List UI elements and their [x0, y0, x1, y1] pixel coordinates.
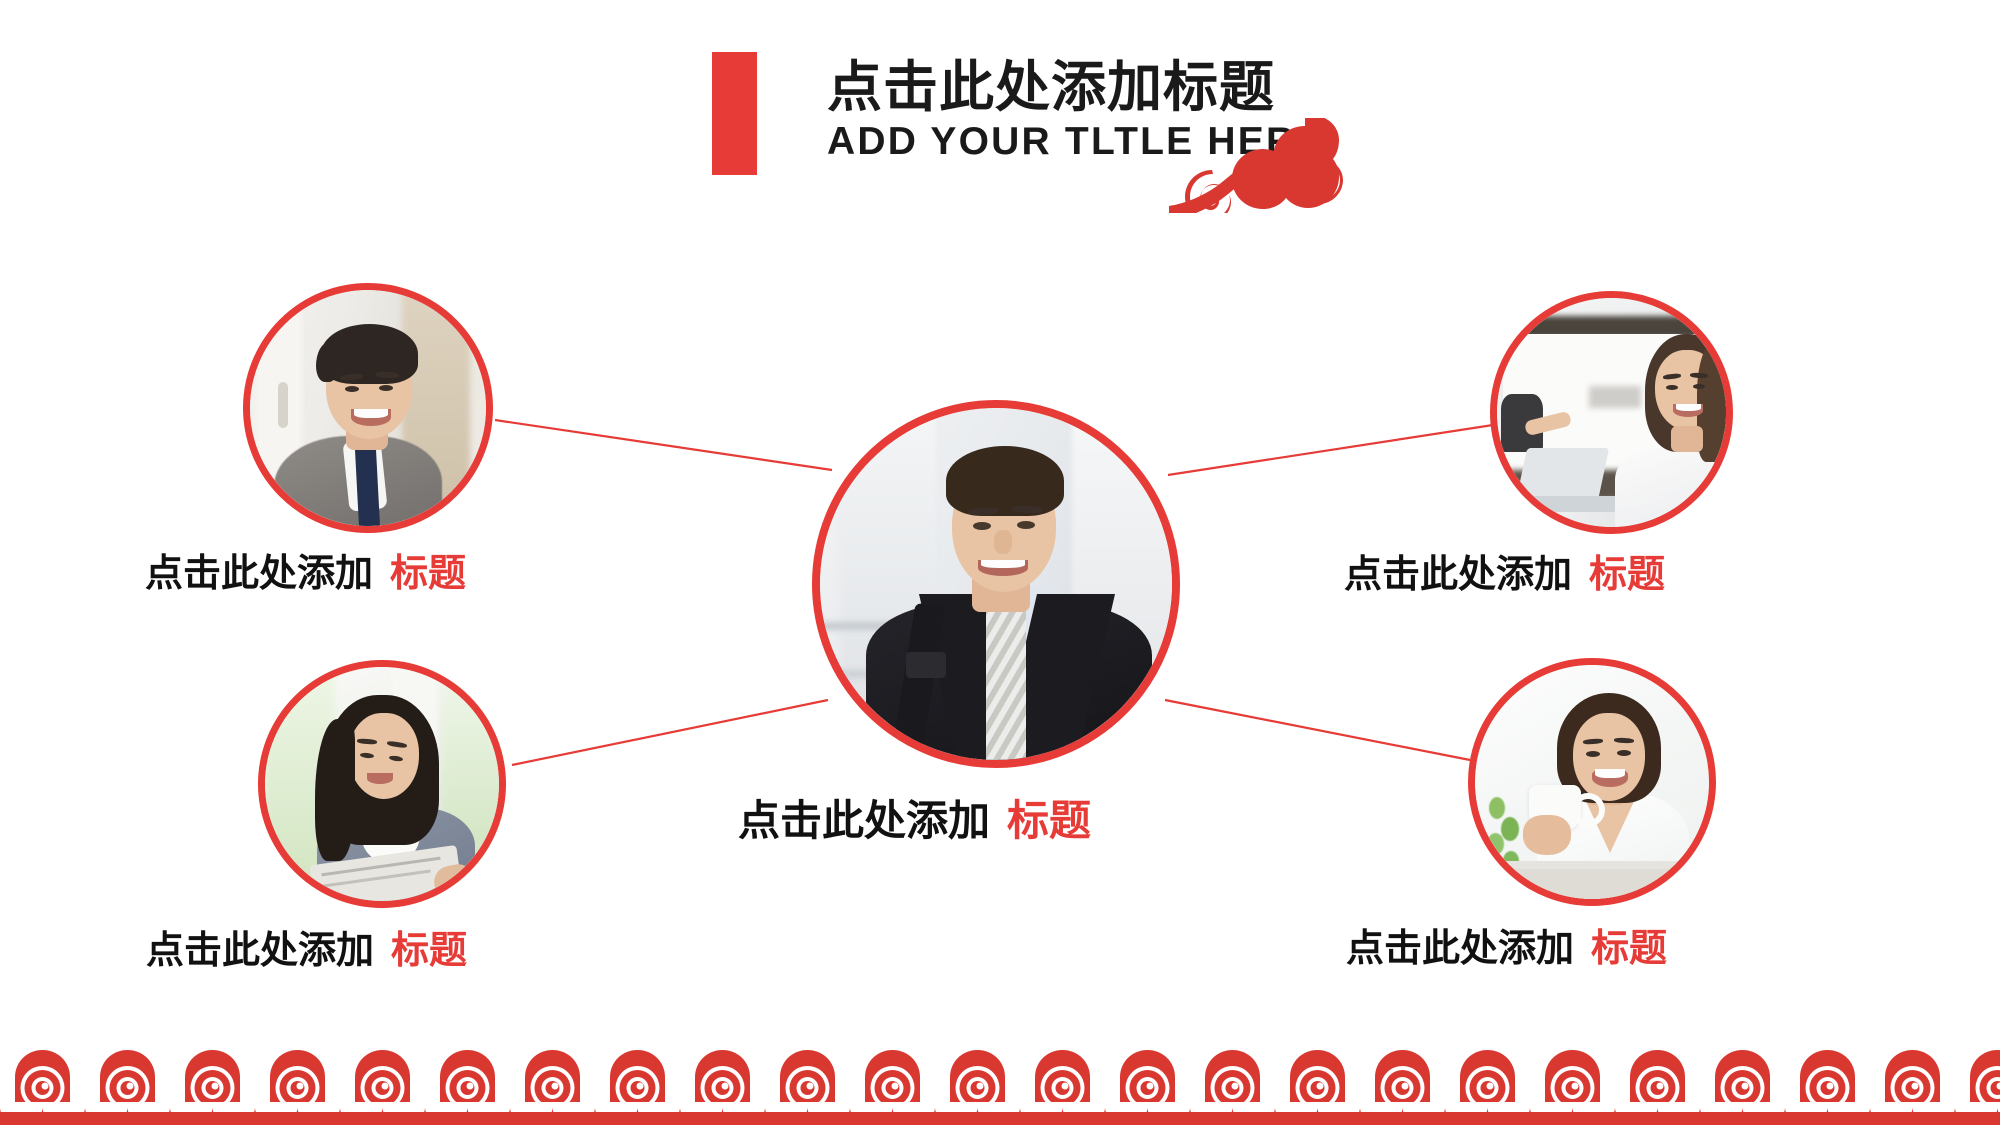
- node-label-center: 点击此处添加标题: [738, 800, 1091, 842]
- node-label-accent: 标题: [1589, 554, 1665, 596]
- page-title: 点击此处添加标题: [827, 58, 1325, 116]
- node-label-bottom-right: 点击此处添加标题: [1346, 930, 1667, 968]
- node-bottom-right[interactable]: 点击此处添加标题: [1468, 658, 1716, 906]
- connector-center-to-top-left: [495, 420, 832, 470]
- node-label-text: 点击此处添加: [1344, 554, 1572, 596]
- connector-center-to-bottom-left: [512, 700, 828, 765]
- connector-center-to-bottom-right: [1165, 700, 1470, 760]
- chinese-wave-border-ornament: [0, 1020, 2000, 1125]
- connector-center-to-top-right: [1168, 425, 1493, 475]
- page-title-block: 点击此处添加标题 ADD YOUR TLTLE HERE: [712, 52, 1325, 175]
- node-bottom-left[interactable]: 点击此处添加标题: [258, 660, 506, 908]
- node-top-right[interactable]: 点击此处添加标题: [1490, 291, 1733, 534]
- node-label-accent: 标题: [390, 553, 466, 595]
- node-label-text: 点击此处添加: [738, 797, 990, 844]
- photo-circle-bottom-left[interactable]: [258, 660, 506, 908]
- photo-circle-center[interactable]: [812, 400, 1180, 768]
- page-subtitle: ADD YOUR TLTLE HERE: [827, 120, 1325, 165]
- node-label-accent: 标题: [1007, 797, 1091, 844]
- node-top-left[interactable]: 点击此处添加标题: [243, 283, 493, 533]
- photo-circle-bottom-right[interactable]: [1468, 658, 1716, 906]
- node-label-text: 点击此处添加: [146, 930, 374, 972]
- photo-circle-top-left[interactable]: [243, 283, 493, 533]
- node-label-accent: 标题: [391, 930, 467, 972]
- photo-circle-top-right[interactable]: [1490, 291, 1733, 534]
- slide-canvas: 点击此处添加标题 ADD YOUR TLTLE HERE: [0, 0, 2000, 1125]
- node-label-bottom-left: 点击此处添加标题: [146, 932, 467, 970]
- node-label-accent: 标题: [1591, 928, 1667, 970]
- node-label-text: 点击此处添加: [145, 553, 373, 595]
- node-label-text: 点击此处添加: [1346, 928, 1574, 970]
- node-center[interactable]: 点击此处添加标题: [812, 400, 1180, 768]
- node-label-top-left: 点击此处添加标题: [145, 555, 466, 593]
- title-text-wrap: 点击此处添加标题 ADD YOUR TLTLE HERE: [827, 58, 1325, 165]
- node-label-top-right: 点击此处添加标题: [1344, 556, 1665, 594]
- title-accent-bar: [712, 52, 757, 175]
